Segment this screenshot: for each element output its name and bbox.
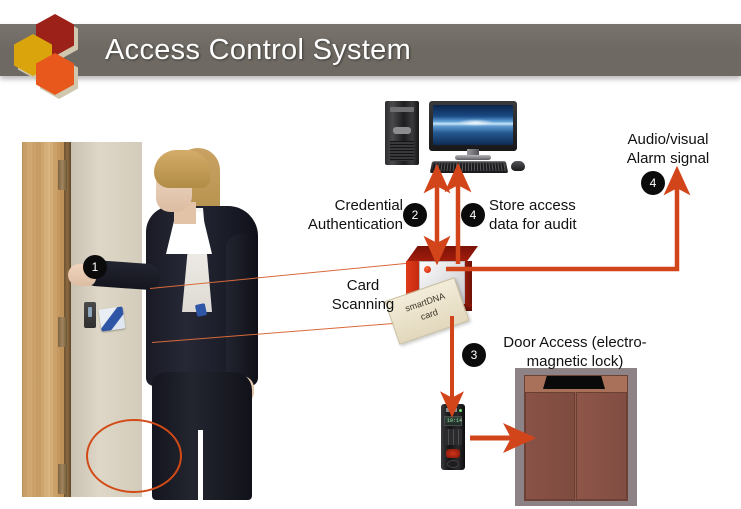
step-badge-3: 3 (462, 343, 486, 367)
reader-brand-logo (446, 408, 457, 412)
keyboard-keys (432, 163, 506, 171)
badging-photo (22, 142, 274, 497)
door-leaf-left (525, 392, 575, 500)
label-door-access: Door Access (electro- magnetic lock) (492, 333, 658, 371)
screen-glow (457, 119, 494, 125)
label-card-scanning: Card Scanning (320, 276, 406, 314)
person-lanyard (195, 303, 207, 317)
monitor-stand-base (455, 155, 491, 160)
credential-line2: Authentication (295, 215, 403, 234)
alarm-line1: Audio/visual (606, 130, 730, 149)
door-leaf-right (576, 392, 627, 500)
door-hinge (58, 317, 67, 347)
step-badge-1: 1 (83, 255, 107, 279)
scanner-top-face (406, 246, 478, 262)
card-scanning-line1: Card (320, 276, 406, 295)
card-reader-led (88, 307, 92, 317)
scanner-right-face (464, 261, 472, 306)
pc-optical-bay (390, 107, 414, 112)
pc-brand-logo (393, 127, 411, 134)
reader-keypad (444, 429, 462, 445)
reader-status-led-icon (459, 409, 462, 412)
step-badge-4-alarm: 4 (641, 171, 665, 195)
maglock-double-door (515, 368, 637, 506)
door-hinge (58, 464, 67, 494)
mouse-icon (511, 161, 525, 171)
store-line2: data for audit (489, 215, 599, 234)
step-badge-4-store: 4 (461, 203, 485, 227)
door-hinge (58, 160, 67, 190)
label-store-access-data: Store access data for audit (489, 196, 599, 234)
reader-display-text: 10:14 (447, 418, 462, 424)
alarm-line2: Alarm signal (606, 149, 730, 168)
slide-canvas: Access Control System (0, 0, 741, 509)
door-access-line2: magnetic lock) (492, 352, 658, 371)
label-alarm-signal: Audio/visual Alarm signal (606, 130, 730, 168)
callout-circle (86, 419, 182, 493)
reader-button (447, 460, 459, 468)
door-access-line1: Door Access (electro- (492, 333, 658, 352)
store-line1: Store access (489, 196, 599, 215)
access-badge-card (99, 306, 126, 331)
door-access-reader: 10:14 (441, 404, 465, 470)
reader-display: 10:14 (444, 416, 462, 426)
person-hair-top (154, 150, 210, 188)
wall-card-reader (84, 302, 96, 328)
page-title: Access Control System (105, 26, 665, 74)
card-scanning-line2: Scanning (320, 295, 406, 314)
person-far-arm (226, 234, 256, 384)
keyboard-icon (430, 161, 508, 173)
scanner-led-icon (424, 266, 431, 273)
pc-vents (390, 141, 414, 161)
server-computer-graphic (385, 101, 530, 173)
hexagon-logo (13, 12, 93, 90)
fingerprint-sensor-icon (446, 449, 460, 458)
monitor-screen (433, 105, 513, 145)
step-badge-2: 2 (403, 203, 427, 227)
monitor-icon (429, 101, 517, 156)
electromagnetic-lock-icon (543, 376, 605, 389)
credential-line1: Credential (295, 196, 403, 215)
label-credential-authentication: Credential Authentication (295, 196, 403, 234)
pc-tower-icon (385, 101, 419, 165)
person-leg-split (198, 430, 203, 500)
